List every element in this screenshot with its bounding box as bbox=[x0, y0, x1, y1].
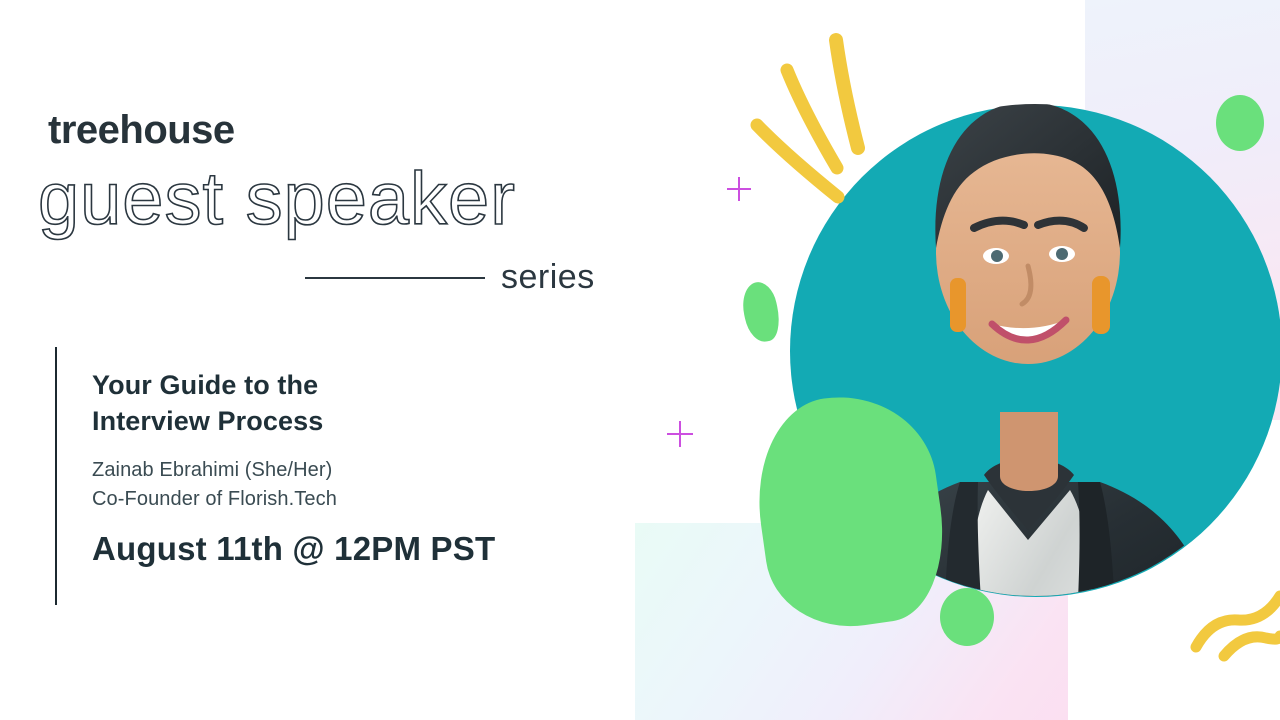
info-accent-bar bbox=[55, 347, 57, 605]
green-dot bbox=[940, 588, 994, 646]
event-heading-line2: Interview Process bbox=[92, 404, 632, 440]
series-divider bbox=[305, 277, 485, 279]
event-info: Your Guide to the Interview Process Zain… bbox=[92, 368, 632, 568]
series-label: series bbox=[501, 258, 595, 297]
series-row: series bbox=[305, 258, 625, 297]
plus-mark-lower bbox=[667, 421, 693, 447]
poster-canvas: treehouse guest speaker series Your Guid… bbox=[0, 0, 1280, 720]
event-heading-line1: Your Guide to the bbox=[92, 368, 632, 404]
event-datetime: August 11th @ 12PM PST bbox=[92, 530, 632, 568]
event-speaker-block: Zainab Ebrahimi (She/Her) Co-Founder of … bbox=[92, 456, 632, 514]
event-heading: Your Guide to the Interview Process bbox=[92, 368, 632, 440]
plus-mark-upper bbox=[727, 177, 751, 201]
speaker-name: Zainab Ebrahimi (She/Her) bbox=[92, 456, 632, 485]
brand-wordmark: treehouse bbox=[48, 108, 235, 153]
page-title-outline: guest speaker bbox=[38, 162, 516, 236]
speaker-role: Co-Founder of Florish.Tech bbox=[92, 485, 632, 514]
